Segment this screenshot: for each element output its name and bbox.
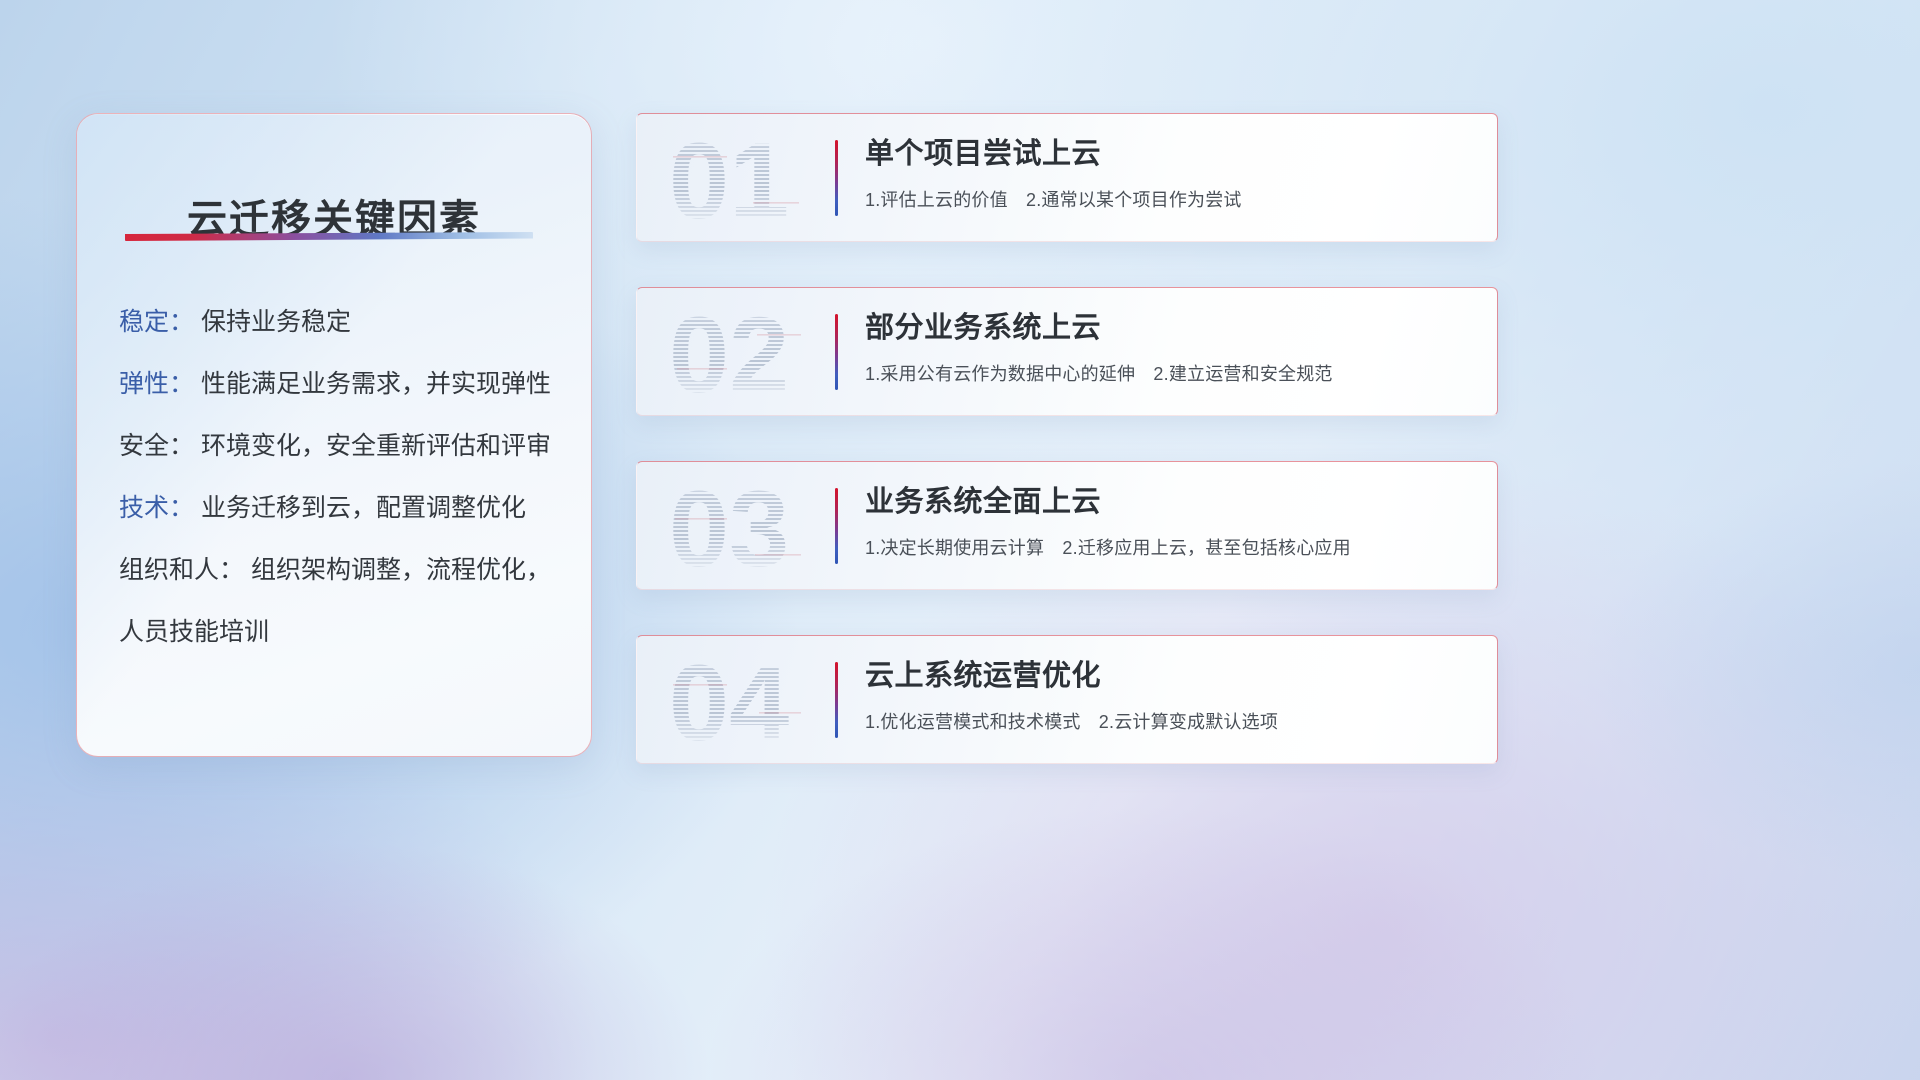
ghost-number-03-icon: 03 — [667, 474, 827, 578]
card-description: 1.评估上云的价值 2.通常以某个项目作为尝试 — [865, 186, 1473, 212]
key-factors-panel: 云迁移关键因素 稳定： 保持业务稳定 弹性： 性能满足业务需求，并实现弹性 安全… — [76, 113, 592, 757]
stage-card-list: 01 单个项目尝试上云 1.评估上云的价值 2.通常以某个项目作为尝试 — [636, 113, 1498, 764]
stage-card-01[interactable]: 01 单个项目尝试上云 1.评估上云的价值 2.通常以某个项目作为尝试 — [636, 113, 1498, 242]
card-body: 云上系统运营优化 1.优化运营模式和技术模式 2.云计算变成默认选项 — [865, 660, 1473, 734]
card-accent-divider — [835, 662, 838, 738]
list-item-continuation: 人员技能培训 — [119, 620, 563, 645]
card-description: 1.决定长期使用云计算 2.迁移应用上云，甚至包括核心应用 — [865, 534, 1473, 560]
list-item: 技术： 业务迁移到云，配置调整优化 — [119, 496, 563, 521]
ghost-number-01-icon: 01 — [667, 126, 827, 230]
svg-text:04: 04 — [669, 648, 789, 752]
card-body: 部分业务系统上云 1.采用公有云作为数据中心的延伸 2.建立运营和安全规范 — [865, 312, 1473, 386]
card-title: 云上系统运营优化 — [865, 660, 1473, 694]
factor-value: 业务迁移到云，配置调整优化 — [201, 494, 526, 522]
card-accent-divider — [835, 140, 838, 216]
factor-label: 组织和人： — [119, 556, 244, 584]
factor-value: 性能满足业务需求，并实现弹性 — [201, 370, 551, 398]
factor-label: 技术： — [119, 494, 194, 522]
factor-label: 安全： — [119, 432, 194, 460]
stage-card-03[interactable]: 03 业务系统全面上云 1.决定长期使用云计算 2.迁移应用上云，甚至包括核心应… — [636, 461, 1498, 590]
card-description: 1.优化运营模式和技术模式 2.云计算变成默认选项 — [865, 708, 1473, 734]
card-body: 业务系统全面上云 1.决定长期使用云计算 2.迁移应用上云，甚至包括核心应用 — [865, 486, 1473, 560]
card-title: 单个项目尝试上云 — [865, 138, 1473, 172]
svg-text:03: 03 — [669, 474, 789, 578]
card-accent-divider — [835, 488, 838, 564]
factor-label: 稳定： — [119, 308, 194, 336]
svg-text:02: 02 — [669, 300, 789, 404]
key-factors-list: 稳定： 保持业务稳定 弹性： 性能满足业务需求，并实现弹性 安全： 环境变化，安… — [119, 310, 563, 645]
list-item: 弹性： 性能满足业务需求，并实现弹性 — [119, 372, 563, 397]
factor-value: 人员技能培训 — [119, 618, 269, 646]
stage-card-04[interactable]: 04 云上系统运营优化 1.优化运营模式和技术模式 2.云计算变成默认选项 — [636, 635, 1498, 764]
factor-label: 弹性： — [119, 370, 194, 398]
list-item: 稳定： 保持业务稳定 — [119, 310, 563, 335]
list-item: 组织和人： 组织架构调整，流程优化， — [119, 558, 563, 583]
card-description: 1.采用公有云作为数据中心的延伸 2.建立运营和安全规范 — [865, 360, 1473, 386]
card-title: 业务系统全面上云 — [865, 486, 1473, 520]
slide-stage: 云迁移关键因素 稳定： 保持业务稳定 弹性： 性能满足业务需求，并实现弹性 安全… — [0, 0, 1920, 1080]
svg-text:01: 01 — [669, 126, 789, 230]
card-accent-divider — [835, 314, 838, 390]
factor-value: 环境变化，安全重新评估和评审 — [201, 432, 551, 460]
card-body: 单个项目尝试上云 1.评估上云的价值 2.通常以某个项目作为尝试 — [865, 138, 1473, 212]
ghost-number-02-icon: 02 — [667, 300, 827, 404]
factor-value: 组织架构调整，流程优化， — [251, 556, 551, 584]
card-title: 部分业务系统上云 — [865, 312, 1473, 346]
ghost-number-04-icon: 04 — [667, 648, 827, 752]
stage-card-02[interactable]: 02 部分业务系统上云 1.采用公有云作为数据中心的延伸 2.建立运营和安全规范 — [636, 287, 1498, 416]
list-item: 安全： 环境变化，安全重新评估和评审 — [119, 434, 563, 459]
factor-value: 保持业务稳定 — [201, 308, 351, 336]
